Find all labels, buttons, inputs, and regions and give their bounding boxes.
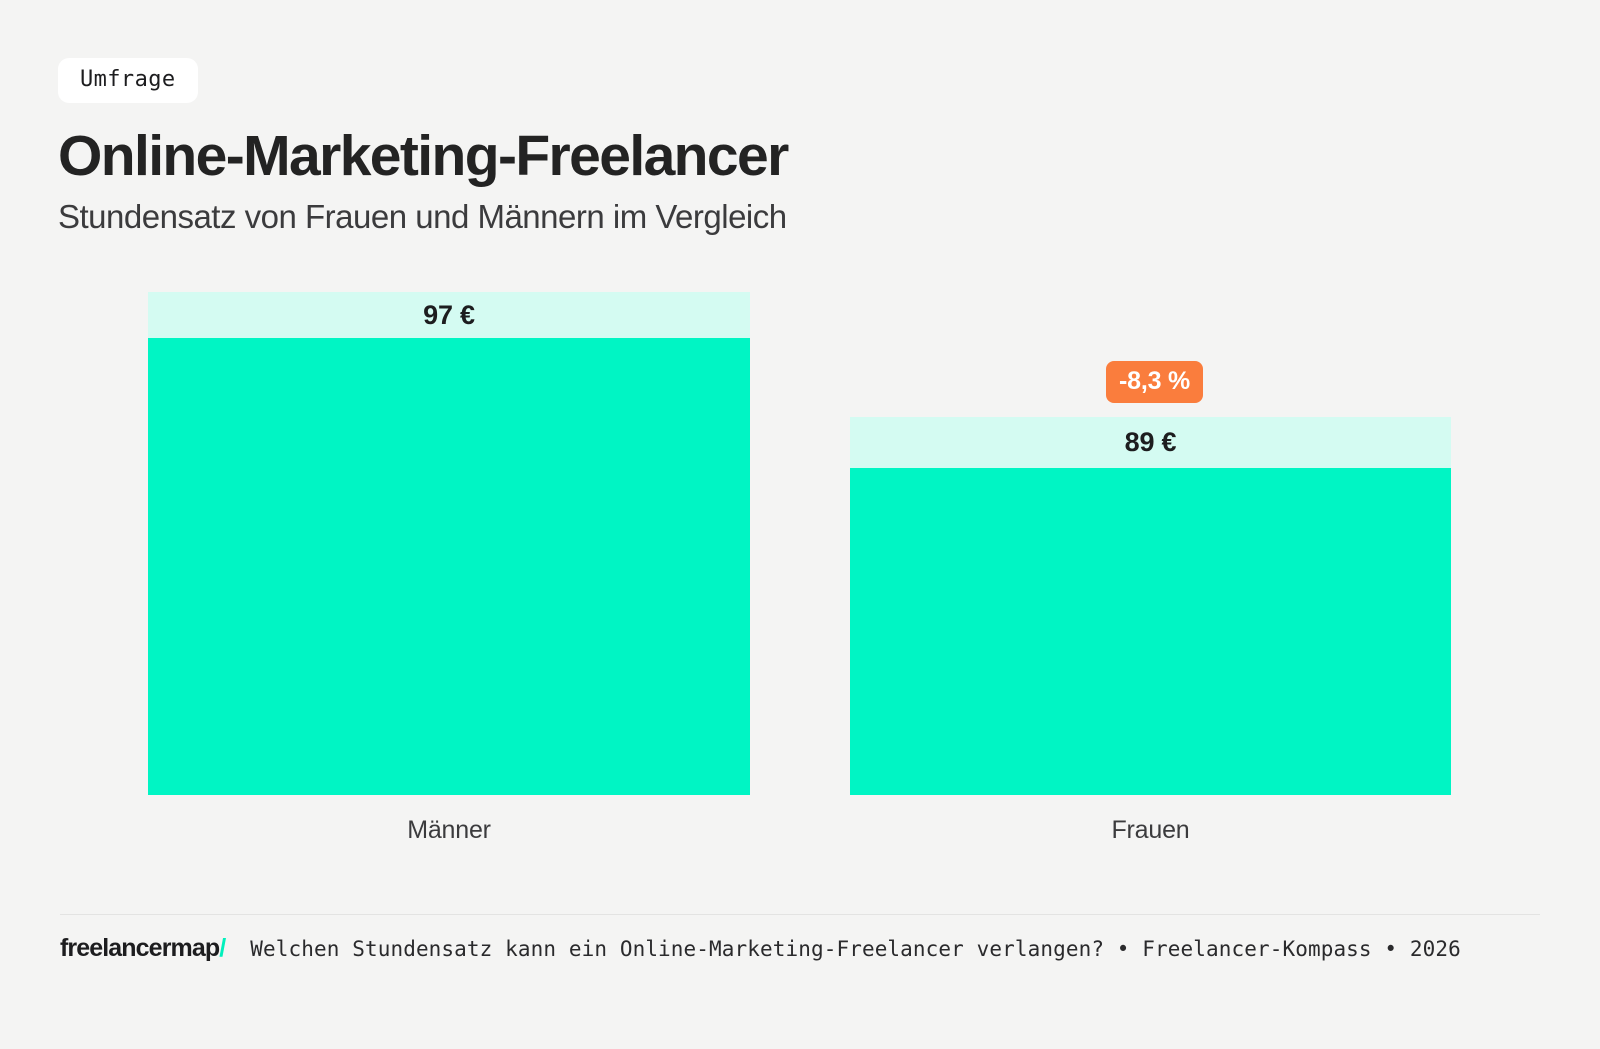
- kicker-badge: Umfrage: [58, 58, 198, 103]
- bar-maenner: [148, 292, 750, 795]
- bar-group-maenner[interactable]: 97 €: [148, 292, 750, 795]
- category-label-maenner: Männer: [148, 818, 750, 843]
- bar-value-frauen: 89 €: [1125, 429, 1177, 456]
- freelancermap-logo[interactable]: freelancermap/: [60, 936, 225, 961]
- infographic-canvas: Umfrage Online-Marketing-Freelancer Stun…: [0, 0, 1600, 1049]
- footer-source-note: Welchen Stundensatz kann ein Online-Mark…: [250, 939, 1461, 960]
- bar-cap-maenner: 97 €: [148, 292, 750, 338]
- bar-group-frauen[interactable]: 89 €: [850, 417, 1451, 795]
- header: Umfrage Online-Marketing-Freelancer Stun…: [58, 58, 1538, 235]
- bar-frauen: [850, 417, 1451, 795]
- footer: freelancermap/ Welchen Stundensatz kann …: [60, 936, 1461, 961]
- bar-cap-frauen: 89 €: [850, 417, 1451, 468]
- page-title: Online-Marketing-Freelancer: [58, 126, 1538, 188]
- category-label-frauen: Frauen: [850, 818, 1451, 843]
- footer-divider: [60, 914, 1540, 915]
- page-subtitle: Stundensatz von Frauen und Männern im Ve…: [58, 198, 1538, 236]
- delta-badge-frauen[interactable]: -8,3 %: [1106, 361, 1203, 403]
- logo-wordmark: freelancermap: [60, 934, 219, 962]
- logo-slash-icon: /: [219, 934, 225, 962]
- bar-value-maenner: 97 €: [423, 302, 475, 329]
